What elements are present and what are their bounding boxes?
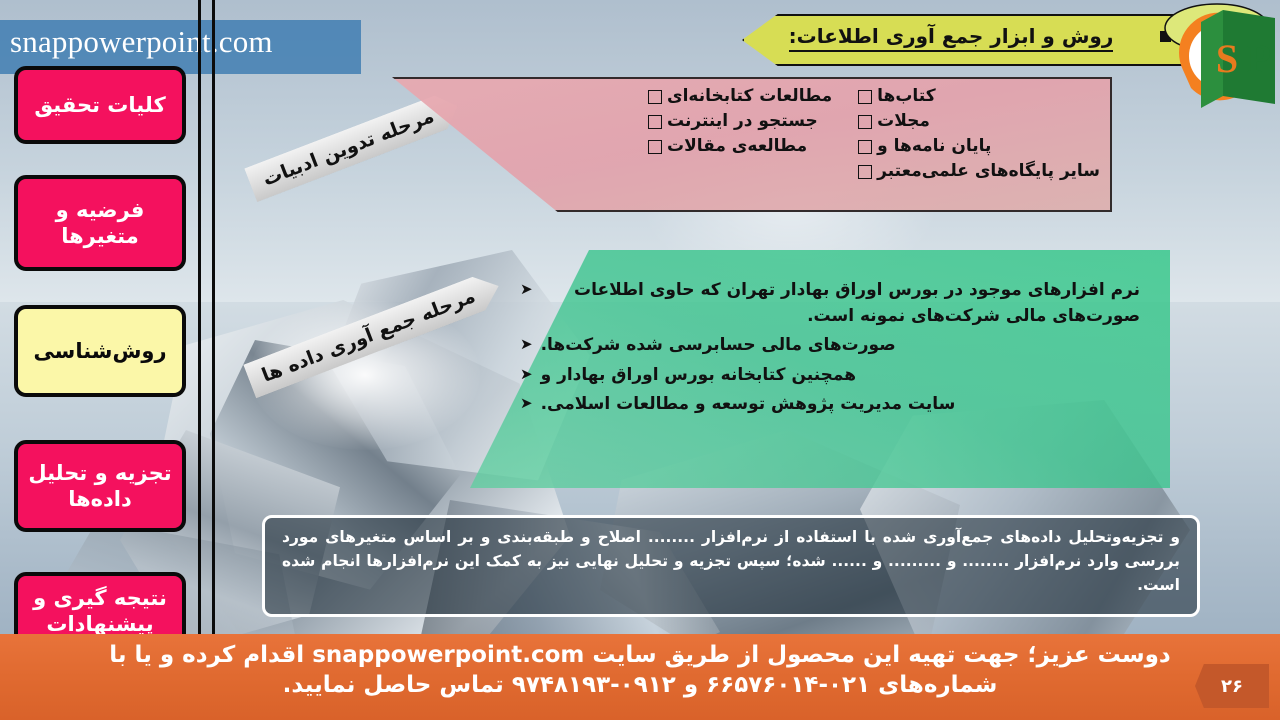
footer-text-part1: دوست عزیز؛ جهت تهیه این محصول از طریق سا…: [592, 642, 1170, 668]
sidebar-item-overview[interactable]: کلیات تحقیق: [14, 66, 186, 144]
footer-line-2: شماره‌های ۰۲۱-۶۶۵۷۶۰۱۴ و ۰۹۱۲-۹۷۴۸۱۹۳ تم…: [0, 670, 1280, 700]
footer-website[interactable]: snappowerpoint.com: [312, 642, 584, 668]
arrow-bullet-icon: ➤: [520, 363, 533, 386]
pink-item-label: پایان نامه‌ها و: [877, 134, 991, 159]
footer-text-part2: اقدام کرده و یا با: [109, 642, 304, 668]
sidebar-item-hypotheses[interactable]: فرضیه و متغیرها: [14, 175, 186, 271]
checkbox-icon: [858, 115, 872, 129]
contact-footer-text: دوست عزیز؛ جهت تهیه این محصول از طریق سا…: [0, 640, 1280, 701]
page-number-badge: ۲۶: [1195, 664, 1269, 708]
list-item: نرم افزارهای موجود در بورس اوراق بهادار …: [520, 278, 1140, 329]
sidebar-item-data-analysis[interactable]: تجزیه و تحلیل داده‌ها: [14, 440, 186, 532]
green-item-label: همچنین کتابخانه بورس اوراق بهادار و: [541, 363, 857, 389]
checkbox-icon: [648, 115, 662, 129]
checkbox-icon: [858, 140, 872, 154]
pink-list-methods: مطالعات کتابخانه‌ای جستجو در اینترنت مطا…: [648, 84, 832, 159]
list-item: مطالعات کتابخانه‌ای: [648, 84, 832, 109]
sidebar-item-label: تجزیه و تحلیل داده‌ها: [26, 460, 174, 513]
green-item-label: نرم افزارهای موجود در بورس اوراق بهادار …: [541, 278, 1140, 329]
list-item: مجلات: [858, 109, 1100, 134]
page-title: روش و ابزار جمع آوری اطلاعات:: [742, 14, 1160, 62]
list-item: پایان نامه‌ها و: [858, 134, 1100, 159]
pink-column-methods: مطالعات کتابخانه‌ای جستجو در اینترنت مطا…: [648, 84, 832, 209]
list-item: سایت مدیریت پژوهش توسعه و مطالعات اسلامی…: [520, 392, 1140, 418]
sidebar-item-label: روش‌شناسی: [33, 338, 166, 364]
list-item: سایر پایگاه‌های علمی‌معتبر: [858, 159, 1100, 184]
green-item-label: صورت‌های مالی حسابرسی شده شرکت‌ها.: [541, 333, 896, 359]
sp-logo-svg: S P: [1155, 0, 1280, 114]
footer-phone-suffix: تماس حاصل نمایید.: [283, 672, 504, 698]
sp-logo: S P: [1155, 0, 1280, 114]
watermark-text: snappowerpoint.com: [10, 24, 360, 60]
green-panel-content: نرم افزارهای موجود در بورس اوراق بهادار …: [520, 278, 1140, 422]
footer-phone-prefix: شماره‌های: [878, 672, 997, 698]
list-item: کتاب‌ها: [858, 84, 1100, 109]
sidebar-item-methodology[interactable]: روش‌شناسی: [14, 305, 186, 397]
checkbox-icon: [858, 165, 872, 179]
pink-list-sources: کتاب‌ها مجلات پایان نامه‌ها و سایر پایگا…: [858, 84, 1100, 185]
footer-conjunction: و: [684, 672, 698, 698]
list-item: صورت‌های مالی حسابرسی شده شرکت‌ها. ➤: [520, 333, 1140, 359]
vertical-divider: [212, 0, 215, 720]
pink-item-label: مجلات: [877, 109, 930, 134]
summary-text: و تجزیه‌وتحلیل داده‌های جمع‌آوری شده با …: [272, 521, 1190, 613]
svg-text:P: P: [1247, 36, 1271, 81]
page-number: ۲۶: [1221, 676, 1243, 697]
footer-phone-2[interactable]: ۰۹۱۲-۹۷۴۸۱۹۳: [512, 672, 676, 698]
checkbox-icon: [648, 90, 662, 104]
checkbox-icon: [858, 90, 872, 104]
arrow-bullet-icon: ➤: [520, 278, 533, 301]
svg-text:S: S: [1216, 36, 1238, 81]
list-item: مطالعه‌ی مقالات: [648, 134, 832, 159]
list-item: جستجو در اینترنت: [648, 109, 832, 134]
green-list: نرم افزارهای موجود در بورس اوراق بهادار …: [520, 278, 1140, 418]
green-item-label: سایت مدیریت پژوهش توسعه و مطالعات اسلامی…: [541, 392, 956, 418]
pink-item-label: کتاب‌ها: [877, 84, 935, 109]
footer-line-1: دوست عزیز؛ جهت تهیه این محصول از طریق سا…: [0, 640, 1280, 670]
pink-panel-content: کتاب‌ها مجلات پایان نامه‌ها و سایر پایگا…: [560, 84, 1100, 209]
arrow-bullet-icon: ➤: [520, 333, 533, 356]
checkbox-icon: [648, 140, 662, 154]
sidebar-item-label: نتیجه گیری و پیشنهادات: [26, 585, 174, 638]
vertical-divider: [198, 0, 201, 720]
pink-item-label: مطالعات کتابخانه‌ای: [667, 84, 832, 109]
pink-column-sources: کتاب‌ها مجلات پایان نامه‌ها و سایر پایگا…: [858, 84, 1100, 209]
footer-phone-1[interactable]: ۰۲۱-۶۶۵۷۶۰۱۴: [706, 672, 870, 698]
pink-item-label: سایر پایگاه‌های علمی‌معتبر: [877, 159, 1100, 184]
slide-canvas: snappowerpoint.com کلیات تحقیق فرضیه و م…: [0, 0, 1280, 720]
page-title-text: روش و ابزار جمع آوری اطلاعات:: [789, 24, 1114, 52]
list-item: همچنین کتابخانه بورس اوراق بهادار و ➤: [520, 363, 1140, 389]
pink-item-label: مطالعه‌ی مقالات: [667, 134, 807, 159]
arrow-bullet-icon: ➤: [520, 392, 533, 415]
pink-item-label: جستجو در اینترنت: [667, 109, 818, 134]
sidebar-item-label: کلیات تحقیق: [34, 92, 165, 118]
sidebar-item-label: فرضیه و متغیرها: [26, 197, 174, 250]
